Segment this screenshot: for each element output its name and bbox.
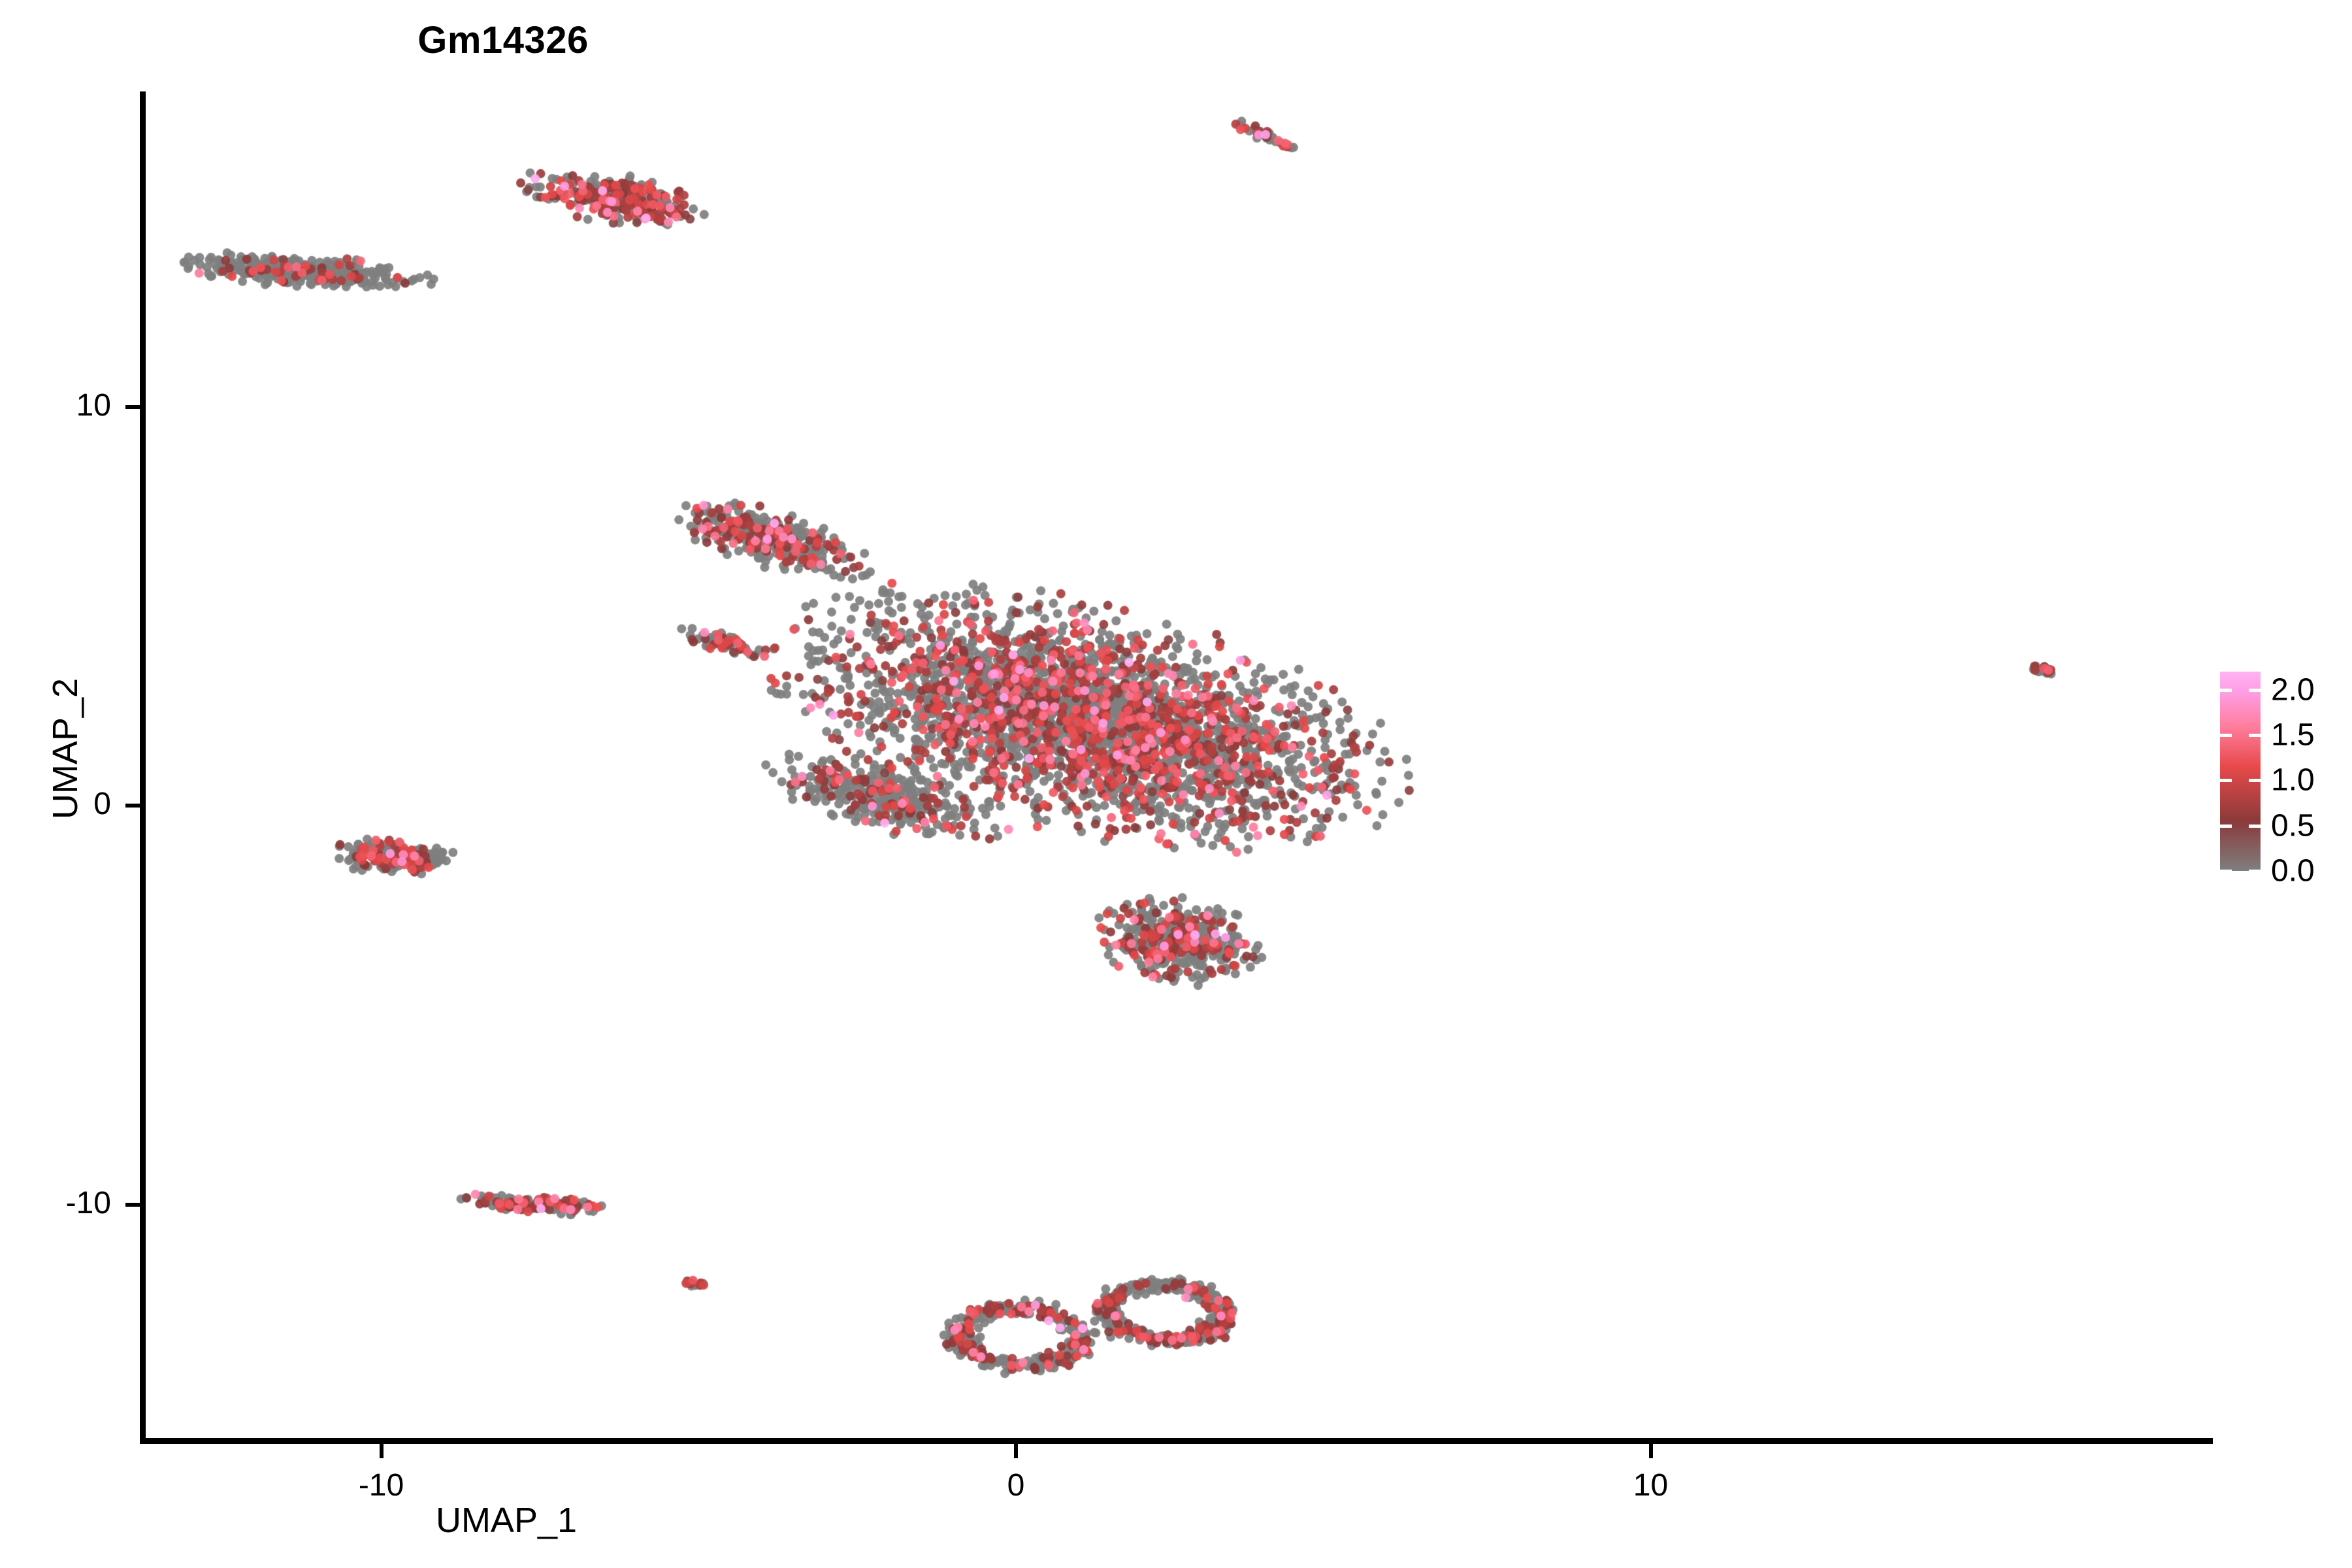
colorbar-tick-mark: [2249, 689, 2261, 692]
plot-panel: [143, 91, 2214, 1441]
colorbar-tick-mark: [2249, 779, 2261, 782]
y-tick-mark: [125, 1203, 140, 1207]
colorbar-tick-mark-left: [2220, 734, 2232, 737]
x-axis-title-text: UMAP_1: [436, 1500, 577, 1541]
color-legend: 2.01.51.00.50.0: [2220, 672, 2344, 881]
x-tick-mark: [1649, 1444, 1653, 1458]
colorbar-tick-mark-left: [2220, 825, 2232, 828]
colorbar-tick-mark-left: [2220, 779, 2232, 782]
colorbar-tick-label: 1.5: [2271, 717, 2315, 753]
colorbar-tick-mark: [2249, 734, 2261, 737]
x-tick-label: -10: [316, 1467, 447, 1503]
colorbar-tick-label: 2.0: [2271, 672, 2315, 708]
colorbar-tick-mark-left: [2220, 689, 2232, 692]
colorbar-tick-mark: [2249, 825, 2261, 828]
x-axis-line: [140, 1438, 2213, 1444]
colorbar-tick-label: 1.0: [2271, 762, 2315, 798]
y-axis-line: [140, 91, 146, 1441]
colorbar-gradient: [2220, 672, 2261, 871]
y-axis-title-text: UMAP_2: [45, 678, 86, 819]
plot-title-text: Gm14326: [417, 18, 588, 62]
umap-feature-plot: Gm14326 100-10 -10010 UMAP_1 UMAP_2 2.01…: [0, 0, 2352, 1568]
y-tick-mark: [125, 405, 140, 409]
x-axis-title: UMAP_1: [0, 1500, 2352, 1541]
y-axis-title: UMAP_2: [45, 20, 86, 1458]
x-tick-label: 10: [1586, 1467, 1716, 1503]
plot-title: Gm14326: [0, 18, 2352, 62]
colorbar-tick-mark-left: [2220, 870, 2232, 873]
y-tick-mark: [125, 804, 140, 808]
x-tick-mark: [380, 1444, 384, 1458]
x-tick-label: 0: [951, 1467, 1081, 1503]
x-tick-mark: [1014, 1444, 1018, 1458]
colorbar-tick-label: 0.0: [2271, 853, 2315, 889]
scatter-canvas: [143, 91, 2214, 1441]
colorbar-tick-mark: [2249, 870, 2261, 873]
colorbar-tick-label: 0.5: [2271, 808, 2315, 843]
